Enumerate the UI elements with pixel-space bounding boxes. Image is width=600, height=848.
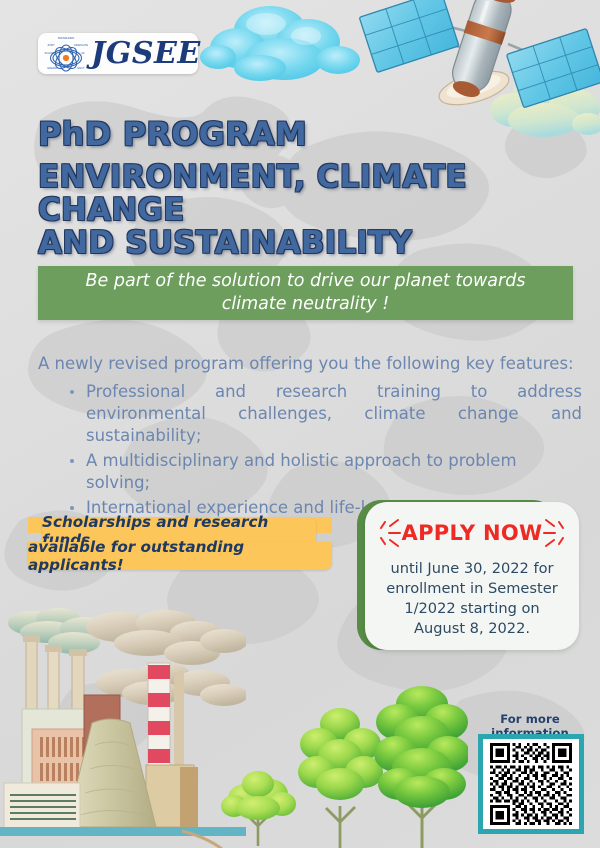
tagline-banner: Be part of the solution to drive our pla…: [38, 266, 573, 320]
logo-wordmark: JGSEE: [91, 39, 201, 69]
title-line-1: PhD PROGRAM: [38, 118, 583, 152]
factory-smokestacks-illustration: [0, 605, 246, 848]
tagline-line-1: Be part of the solution to drive our pla…: [86, 271, 526, 291]
svg-text:SCHOOL: SCHOOL: [45, 51, 57, 55]
jgsee-logo: SIRINDHORN JOINT GRADUATE SCHOOL OF ENER…: [38, 33, 198, 74]
atom-flower-svg: SIRINDHORN JOINT GRADUATE SCHOOL OF ENER…: [43, 35, 89, 73]
svg-text:ENVT: ENVT: [78, 66, 85, 70]
title-line-3: AND SUSTAINABILITY: [38, 227, 583, 260]
cloud-illustration: [196, 2, 366, 88]
satellite-svg: [356, 0, 600, 118]
atom-flower-icon: SIRINDHORN JOINT GRADUATE SCHOOL OF ENER…: [43, 35, 89, 73]
scholarship-banner: Scholarships and research funds availabl…: [28, 517, 332, 570]
page-title: PhD PROGRAM ENVIRONMENT, CLIMATE CHANGE …: [38, 118, 583, 259]
trees-svg: [218, 686, 468, 848]
apply-now-card[interactable]: APPLY NOW until June 30, 2022 for enroll…: [357, 500, 579, 652]
features-lead: A newly revised program offering you the…: [38, 354, 578, 373]
spark-burst-icon: [542, 516, 568, 550]
trees-illustration: [218, 686, 468, 848]
apply-detail-text: until June 30, 2022 for enrollment in Se…: [365, 559, 579, 640]
svg-text:GRADUATE: GRADUATE: [74, 43, 88, 47]
svg-text:SIRINDHORN: SIRINDHORN: [58, 36, 75, 40]
apply-now-heading: APPLY NOW: [402, 521, 543, 545]
title-line-2: ENVIRONMENT, CLIMATE CHANGE: [38, 161, 583, 227]
spark-right-svg: [542, 516, 568, 550]
svg-text:ENERGY: ENERGY: [48, 66, 59, 70]
tagline-line-2: climate neutrality !: [222, 294, 390, 314]
qr-code-icon[interactable]: [478, 734, 584, 834]
spark-left-svg: [376, 516, 402, 550]
factory-svg: [0, 605, 246, 848]
svg-text:JOINT: JOINT: [47, 43, 55, 47]
cloud-blue-svg: [196, 2, 366, 88]
poster-root: SIRINDHORN JOINT GRADUATE SCHOOL OF ENER…: [0, 0, 600, 848]
list-item: A multidisciplinary and holistic approac…: [66, 450, 582, 494]
list-item: Professional and research training to ad…: [66, 381, 582, 447]
qr-code-svg: [487, 743, 575, 825]
satellite-illustration: [356, 0, 600, 118]
spark-burst-icon: [376, 516, 402, 550]
scholarship-line-2: available for outstanding applicants!: [28, 542, 332, 570]
svg-text:OF: OF: [81, 51, 85, 55]
